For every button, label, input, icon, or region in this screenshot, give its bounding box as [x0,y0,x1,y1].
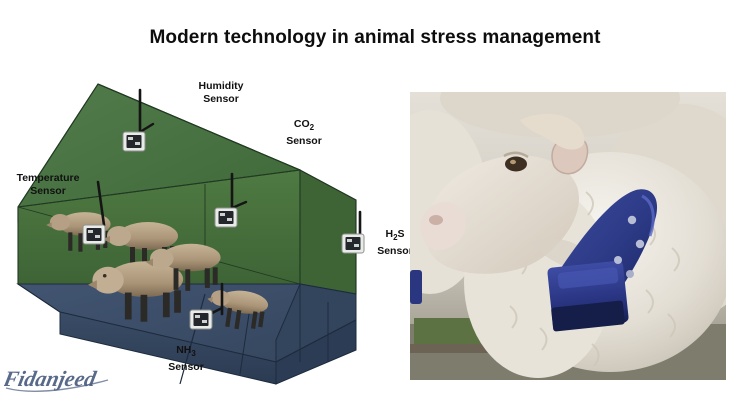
background-collar-fragment [410,270,422,304]
label-temperature-line1: Temperature [17,172,80,184]
sensor-screen-h2s [346,237,361,250]
sensor-screen-co2 [219,211,234,224]
label-h2s-line2: Sensor [377,245,413,257]
label-temperature-line2: Sensor [30,185,66,197]
collar-screw-2 [636,240,644,248]
label-h2s-formula: H [385,228,393,240]
label-nh3-sensor: NH3 Sensor [155,344,217,373]
label-temperature-sensor: Temperature Sensor [8,172,88,197]
sensor-screen-nh3 [194,313,209,326]
sheep-eye-highlight [510,160,516,164]
label-nh3-formula: NH [176,344,191,356]
label-co2-formula: CO [294,118,310,130]
sheep-eye [505,157,527,172]
collar-screw-3 [614,256,622,264]
label-humidity-line1: Humidity [199,80,244,92]
sensor-screen-humidity [127,135,142,148]
watermark-text: Fidanjeed [4,366,99,391]
collar-screw-1 [628,216,636,224]
label-h2s-formula-tail: S [398,228,405,240]
barn-sensor-diagram [0,62,400,392]
collar-screw-4 [626,270,634,278]
label-humidity-sensor: Humidity Sensor [178,80,264,105]
slide-canvas: Modern technology in animal stress manag… [0,0,750,400]
upper-wall-right-end [300,170,356,294]
label-nh3-subscript: 3 [191,349,195,358]
sensor-screen-temperature [87,228,102,241]
sheep-sensor-photo [410,92,726,380]
label-nh3-line2: Sensor [168,361,204,373]
watermark-signature: Fidanjeed [4,360,119,396]
sheep-nostril [429,215,443,225]
label-co2-sensor: CO2 Sensor [272,118,336,147]
label-co2-subscript: 2 [310,123,314,132]
label-co2-line2: Sensor [286,135,322,147]
label-humidity-line2: Sensor [203,93,239,105]
page-title: Modern technology in animal stress manag… [0,27,750,49]
